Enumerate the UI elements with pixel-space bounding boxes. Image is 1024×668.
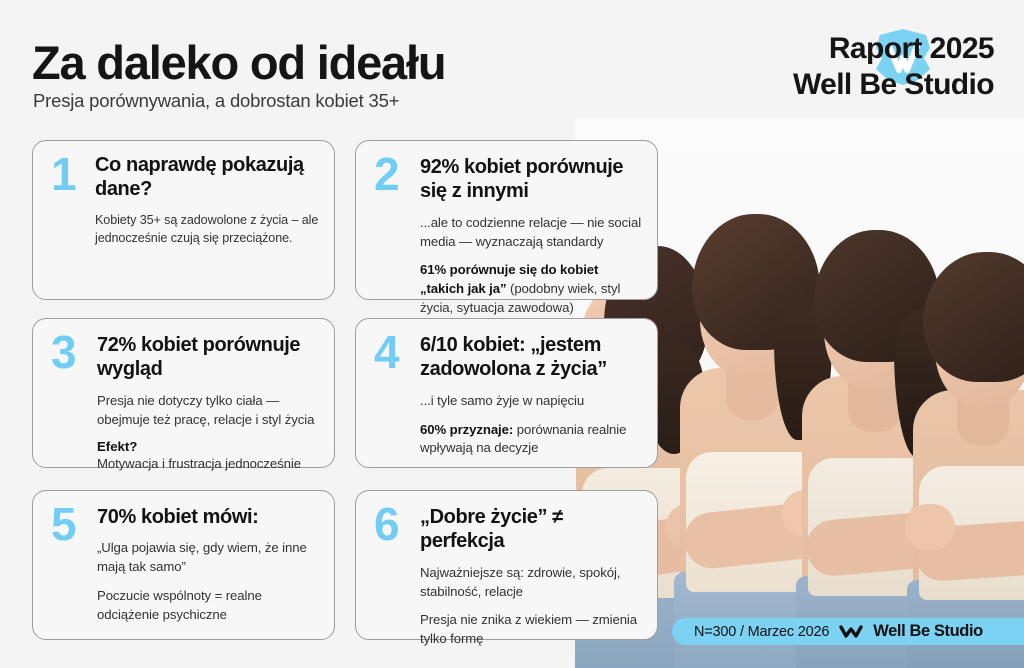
brand-logo: Raport 2025 Well Be Studio [784,30,994,108]
card-4-paragraph-2: 60% przyznaje: porównania realnie wpływa… [420,421,643,458]
woman-4-hand [905,504,955,550]
card-2-paragraph-1: ...ale to codzienne relacje — nie social… [420,214,643,251]
card-5[interactable]: 5 70% kobiet mówi: „Ulga pojawia się, gd… [32,490,335,640]
card-2-number: 2 [374,151,399,197]
card-1-body: Co naprawdę pokazują dane? Kobiety 35+ s… [95,153,320,248]
card-5-body: 70% kobiet mówi: „Ulga pojawia się, gdy … [97,505,320,624]
card-2-body: 92% kobiet porównuje się z innymi ...ale… [420,155,643,317]
card-1-heading: Co naprawdę pokazują dane? [95,153,320,202]
woman-4-hair [923,252,1024,382]
card-6-paragraph-1: Najważniejsze są: zdrowie, spokój, stabi… [420,564,643,601]
infographic-page: Za daleko od ideału Presja porównywania,… [0,0,1024,668]
card-3-effect-label: Efekt? [97,439,320,454]
card-5-heading: 70% kobiet mówi: [97,505,320,529]
page-title: Za daleko od ideału [32,38,445,87]
card-4-heading: 6/10 kobiet: „jestem zadowolona z życia” [420,333,643,382]
card-6-number: 6 [374,501,399,547]
footer-brand-name: Well Be Studio [873,622,983,641]
card-1-number: 1 [51,151,76,197]
card-4-body: 6/10 kobiet: „jestem zadowolona z życia”… [420,333,643,458]
card-2-heading: 92% kobiet porównuje się z innymi [420,155,643,204]
card-4-number: 4 [374,329,399,375]
card-1-paragraph-1: Kobiety 35+ są zadowolone z życia – ale … [95,212,320,248]
page-subtitle: Presja porównywania, a dobrostan kobiet … [33,90,399,112]
card-3-paragraph-2: Motywacja i frustracja jednocześnie [97,455,320,474]
card-5-number: 5 [51,501,76,547]
card-4-paragraph-1: ...i tyle samo żyje w napięciu [420,392,643,411]
card-3-body: 72% kobiet porównuje wygląd Presja nie d… [97,333,320,474]
footer-sample-size: N=300 / Marzec 2026 [694,624,829,640]
footer-badge: N=300 / Marzec 2026 Well Be Studio [672,618,1024,645]
card-6[interactable]: 6 „Dobre życie” ≠ perfekcja Najważniejsz… [355,490,658,640]
card-5-paragraph-2: Poczucie wspólnoty = realne odciążenie p… [97,587,320,624]
card-3[interactable]: 3 72% kobiet porównuje wygląd Presja nie… [32,318,335,468]
card-6-heading: „Dobre życie” ≠ perfekcja [420,505,643,554]
card-2-paragraph-2: 61% porównuje się do kobiet „takich jak … [420,261,643,317]
card-4-paragraph-2-lead: 60% przyznaje: [420,422,513,437]
card-4[interactable]: 4 6/10 kobiet: „jestem zadowolona z życi… [355,318,658,468]
card-3-paragraph-1: Presja nie dotyczy tylko ciała — obejmuj… [97,392,320,429]
card-5-paragraph-1: „Ulga pojawia się, gdy wiem, że inne maj… [97,539,320,576]
well-be-w-monogram-icon [838,624,864,639]
brand-line-studio: Well Be Studio [793,68,994,102]
brand-line-report: Raport 2025 [829,32,994,66]
card-1[interactable]: 1 Co naprawdę pokazują dane? Kobiety 35+… [32,140,335,300]
card-3-heading: 72% kobiet porównuje wygląd [97,333,320,382]
card-6-body: „Dobre życie” ≠ perfekcja Najważniejsze … [420,505,643,649]
card-6-paragraph-2: Presja nie znika z wiekiem — zmienia tyl… [420,611,643,648]
woman-4 [905,238,1024,668]
card-3-number: 3 [51,329,76,375]
card-2[interactable]: 2 92% kobiet porównuje się z innymi ...a… [355,140,658,300]
